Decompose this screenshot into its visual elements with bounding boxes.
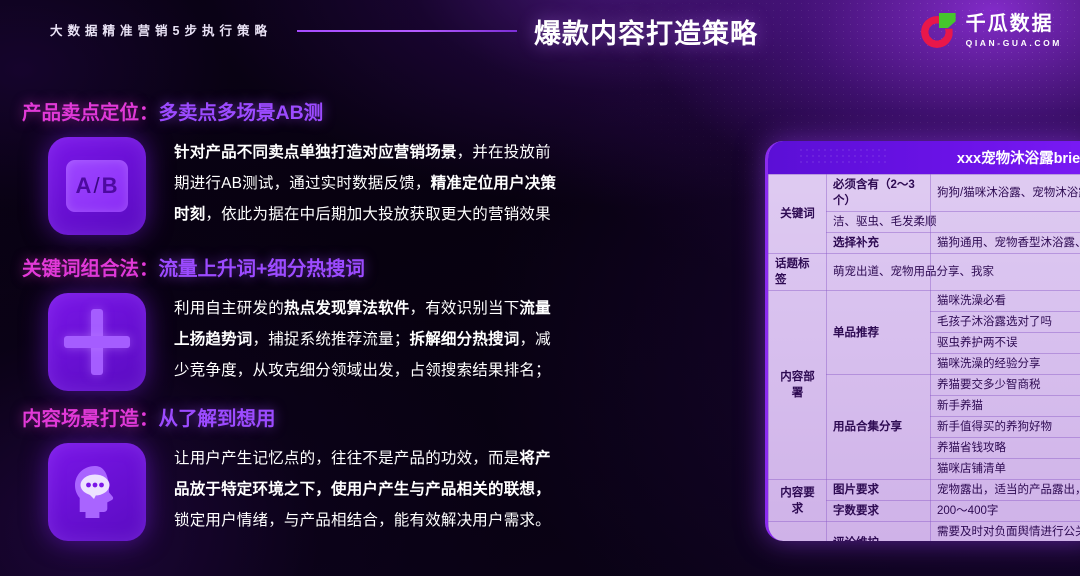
normal-text: ，依此为据在中后期加大投放获取更大的营销效果: [205, 206, 550, 223]
logo-leaf-shape: [939, 13, 956, 28]
page-title: 爆款内容打造策略: [534, 12, 758, 51]
body-line: 锁定用户情绪，与产品相结合，能有效解决用户需求。: [174, 505, 644, 536]
table-cell-category: 内容部署: [769, 291, 827, 480]
emphasis-text: 流量: [519, 300, 550, 317]
body-line: 上扬趋势词，捕捉系统推荐流量；拆解细分热搜词，减: [174, 324, 644, 355]
header-kicker: 大数据精准营销5步执行策略: [50, 20, 272, 39]
section-body-text: 让用户产生记忆点的，往往不是产品的功效，而是将产品放于特定环境之下，使用户产生与…: [174, 443, 644, 536]
table-cell-subcategory: 必须含有（2～3个）: [827, 175, 931, 212]
ab-test-icon-inner: A/B: [66, 160, 128, 212]
body-line: 利用自主研发的热点发现算法软件，有效识别当下流量: [174, 293, 644, 324]
section-body-text: 针对产品不同卖点单独打造对应营销场景，并在投放前期进行AB测试，通过实时数据反馈…: [174, 137, 644, 230]
table-cell-subcategory: 选择补充: [827, 233, 931, 254]
table-cell-value: 新手养猫: [931, 396, 1080, 417]
table-row: 内容部署单品推荐猫咪洗澡必看: [769, 291, 1080, 312]
table-cell-subcategory: 评论维护: [827, 522, 931, 542]
table-cell-value: 200～400字: [931, 501, 1080, 522]
table-row: 内容要求图片要求宠物露出，适当的产品露出，无: [769, 480, 1080, 501]
emphasis-text: 时刻: [174, 206, 205, 223]
header-dot-texture: [798, 147, 888, 167]
table-cell-value: 猫咪洗澡必看: [931, 291, 1080, 312]
table-cell-subcategory: 图片要求: [827, 480, 931, 501]
table-row: 话题标签萌宠出道、宠物用品分享、我家: [769, 254, 1080, 291]
emphasis-text: 拆解细分热搜词: [410, 331, 520, 348]
section-body-text: 利用自主研发的热点发现算法软件，有效识别当下流量上扬趋势词，捕捉系统推荐流量；拆…: [174, 293, 644, 386]
table-cell-subcategory: 字数要求: [827, 501, 931, 522]
content-sections: 产品卖点定位：多卖点多场景AB测 A/B 针对产品不同卖点单独打造对应营销场景，…: [0, 74, 700, 574]
table-row: 关键词必须含有（2～3个）狗狗/猫咪沐浴露、宠物沐浴露: [769, 175, 1080, 212]
table-cell-value: 毛孩子沐浴露选对了吗: [931, 312, 1080, 333]
section-heading-lead: 关键词组合法：: [22, 258, 159, 280]
normal-text: 少竞争度，从攻克细分领域出发，占领搜索结果排名；: [174, 362, 551, 379]
emphasis-text: 将产: [519, 450, 550, 467]
table-cell-value: 洁、驱虫、毛发柔顺: [827, 212, 931, 233]
table-cell-subcategory: 话题标签: [769, 254, 827, 291]
section-content-scenario: 内容场景打造：从了解到想用 让用户产生记忆点的，往往不是产品的功效，而是将产品放…: [0, 402, 700, 541]
table-cell-category: 注意事项: [769, 522, 827, 542]
head-speech-icon-svg: [65, 460, 129, 524]
body-line: 期进行AB测试，通过实时数据反馈，精准定位用户决策: [174, 168, 644, 199]
section-heading-trail: 流量上升词+细分热搜词: [159, 258, 365, 280]
normal-text: ，有效识别当下: [410, 300, 520, 317]
table-cell-value: 养猫省钱攻略: [931, 438, 1080, 459]
section-heading-lead: 产品卖点定位：: [22, 102, 159, 124]
section-heading-trail: 从了解到想用: [159, 408, 276, 430]
table-cell-subcategory: 用品合集分享: [827, 375, 931, 480]
slide-header: 大数据精准营销5步执行策略 爆款内容打造策略 千瓜数据 QIAN-GUA.COM: [0, 0, 1080, 62]
body-line: 少竞争度，从攻克细分领域出发，占领搜索结果排名；: [174, 355, 644, 386]
body-line: 让用户产生记忆点的，往往不是产品的功效，而是将产: [174, 443, 644, 474]
body-line: 时刻，依此为据在中后期加大投放获取更大的营销效果: [174, 199, 644, 230]
table-cell-value: 猫咪洗澡的经验分享: [931, 354, 1080, 375]
section-heading-lead: 内容场景打造：: [22, 408, 159, 430]
logo-wordmark: 千瓜数据 QIAN-GUA.COM: [966, 14, 1062, 48]
body-line: 针对产品不同卖点单独打造对应营销场景，并在投放前: [174, 137, 644, 168]
table-cell-value: 狗狗/猫咪沐浴露、宠物沐浴露: [931, 175, 1080, 212]
body-line: 品放于特定环境之下，使用户产生与产品相关的联想，: [174, 474, 644, 505]
section-heading: 关键词组合法：流量上升词+细分热搜词: [22, 252, 700, 281]
normal-text: ，减: [519, 331, 550, 348]
table-cell-subcategory: 单品推荐: [827, 291, 931, 375]
ab-test-icon: A/B: [48, 137, 146, 235]
table-cell-value: 猫咪店铺清单: [931, 459, 1080, 480]
table-cell-value: 萌宠出道、宠物用品分享、我家: [827, 254, 931, 291]
plus-icon: [48, 293, 146, 391]
emphasis-text: 精准定位用户决策: [431, 175, 557, 192]
table-cell-value: 需要及时对负面舆情进行公关，: [931, 522, 1080, 542]
normal-text: 让用户产生记忆点的，往往不是产品的功效，而是: [174, 450, 519, 467]
normal-text: ，并在投放前: [457, 144, 551, 161]
brief-table-header: xxx宠物沐浴露brief: [768, 141, 1080, 174]
emphasis-text: 针对产品不同卖点单独打造对应营销场景: [174, 144, 457, 161]
brief-table-panel[interactable]: xxx宠物沐浴露brief 关键词必须含有（2～3个）狗狗/猫咪沐浴露、宠物沐浴…: [765, 141, 1080, 541]
section-product-selling-point: 产品卖点定位：多卖点多场景AB测 A/B 针对产品不同卖点单独打造对应营销场景，…: [0, 96, 700, 235]
normal-text: 锁定用户情绪，与产品相结合，能有效解决用户需求。: [174, 512, 551, 529]
table-cell-category: 关键词: [769, 175, 827, 254]
table-cell-category: 内容要求: [769, 480, 827, 522]
section-keyword-combination: 关键词组合法：流量上升词+细分热搜词 利用自主研发的热点发现算法软件，有效识别当…: [0, 252, 700, 391]
table-cell-value: 新手值得买的养狗好物: [931, 417, 1080, 438]
table-row: 注意事项评论维护需要及时对负面舆情进行公关，: [769, 522, 1080, 542]
normal-text: 期进行AB测试，通过实时数据反馈，: [174, 175, 431, 192]
section-heading: 内容场景打造：从了解到想用: [22, 402, 700, 431]
header-divider-line: [297, 30, 517, 32]
table-cell-value: 养猫要交多少智商税: [931, 375, 1080, 396]
qiangua-logo-icon: [921, 13, 957, 49]
normal-text: 利用自主研发的: [174, 300, 284, 317]
emphasis-text: 品放于特定环境之下，使用户产生与产品相关的联想，: [174, 481, 551, 498]
brief-table-title: xxx宠物沐浴露brief: [957, 147, 1080, 168]
emphasis-text: 上扬趋势词: [174, 331, 253, 348]
brand-logo: 千瓜数据 QIAN-GUA.COM: [921, 10, 1062, 52]
emphasis-text: 热点发现算法软件: [284, 300, 410, 317]
logo-domain: QIAN-GUA.COM: [966, 39, 1062, 48]
normal-text: ，捕捉系统推荐流量；: [253, 331, 410, 348]
slide-canvas: 大数据精准营销5步执行策略 爆款内容打造策略 千瓜数据 QIAN-GUA.COM…: [0, 0, 1080, 576]
head-speech-icon: [48, 443, 146, 541]
brief-table: 关键词必须含有（2～3个）狗狗/猫咪沐浴露、宠物沐浴露洁、驱虫、毛发柔顺选择补充…: [768, 174, 1080, 541]
plus-icon-inner: [64, 309, 130, 375]
section-heading: 产品卖点定位：多卖点多场景AB测: [22, 96, 700, 125]
table-cell-value: 驱虫养护两不误: [931, 333, 1080, 354]
table-cell-value: 猫狗通用、宠物香型沐浴露、宠: [931, 233, 1080, 254]
logo-name-cn: 千瓜数据: [966, 14, 1062, 34]
section-heading-trail: 多卖点多场景AB测: [159, 102, 324, 124]
table-cell-value: 宠物露出，适当的产品露出，无: [931, 480, 1080, 501]
